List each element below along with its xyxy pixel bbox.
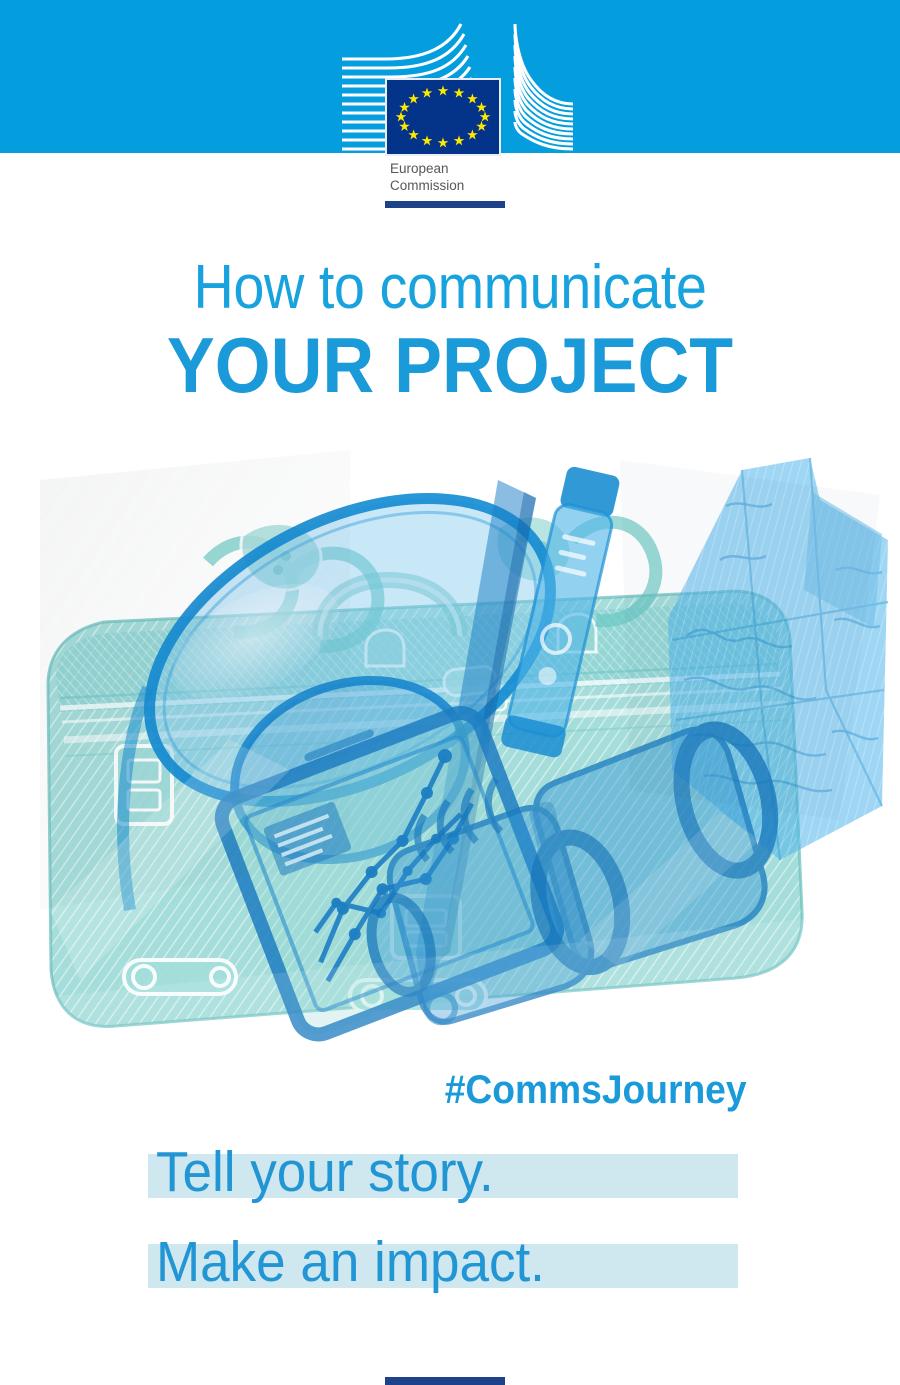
european-commission-logo: European Commission <box>325 18 575 214</box>
hashtag: #CommsJourney <box>63 1068 900 1113</box>
title-line-1: How to communicate <box>45 255 855 320</box>
footer-rule <box>385 1377 505 1385</box>
eu-flag-icon <box>385 78 501 156</box>
logo-org-line1: European <box>390 161 449 176</box>
tagline-row-2: Make an impact. <box>148 1242 788 1316</box>
xray-travel-suitcase-illustration <box>20 440 890 1060</box>
logo-right-wave-lines <box>515 24 573 149</box>
poster-canvas: European Commission How to communicate Y… <box>0 0 900 1385</box>
logo-org-line2: Commission <box>390 178 464 193</box>
tagline: Tell your story. Make an impact. <box>148 1152 788 1316</box>
logo-rule <box>385 201 505 208</box>
tagline-row-1: Tell your story. <box>148 1152 788 1226</box>
page-title: How to communicate YOUR PROJECT <box>0 255 900 404</box>
tagline-line-1: Tell your story. <box>156 1144 494 1201</box>
tagline-line-2: Make an impact. <box>156 1234 545 1291</box>
title-line-2: YOUR PROJECT <box>36 326 864 404</box>
